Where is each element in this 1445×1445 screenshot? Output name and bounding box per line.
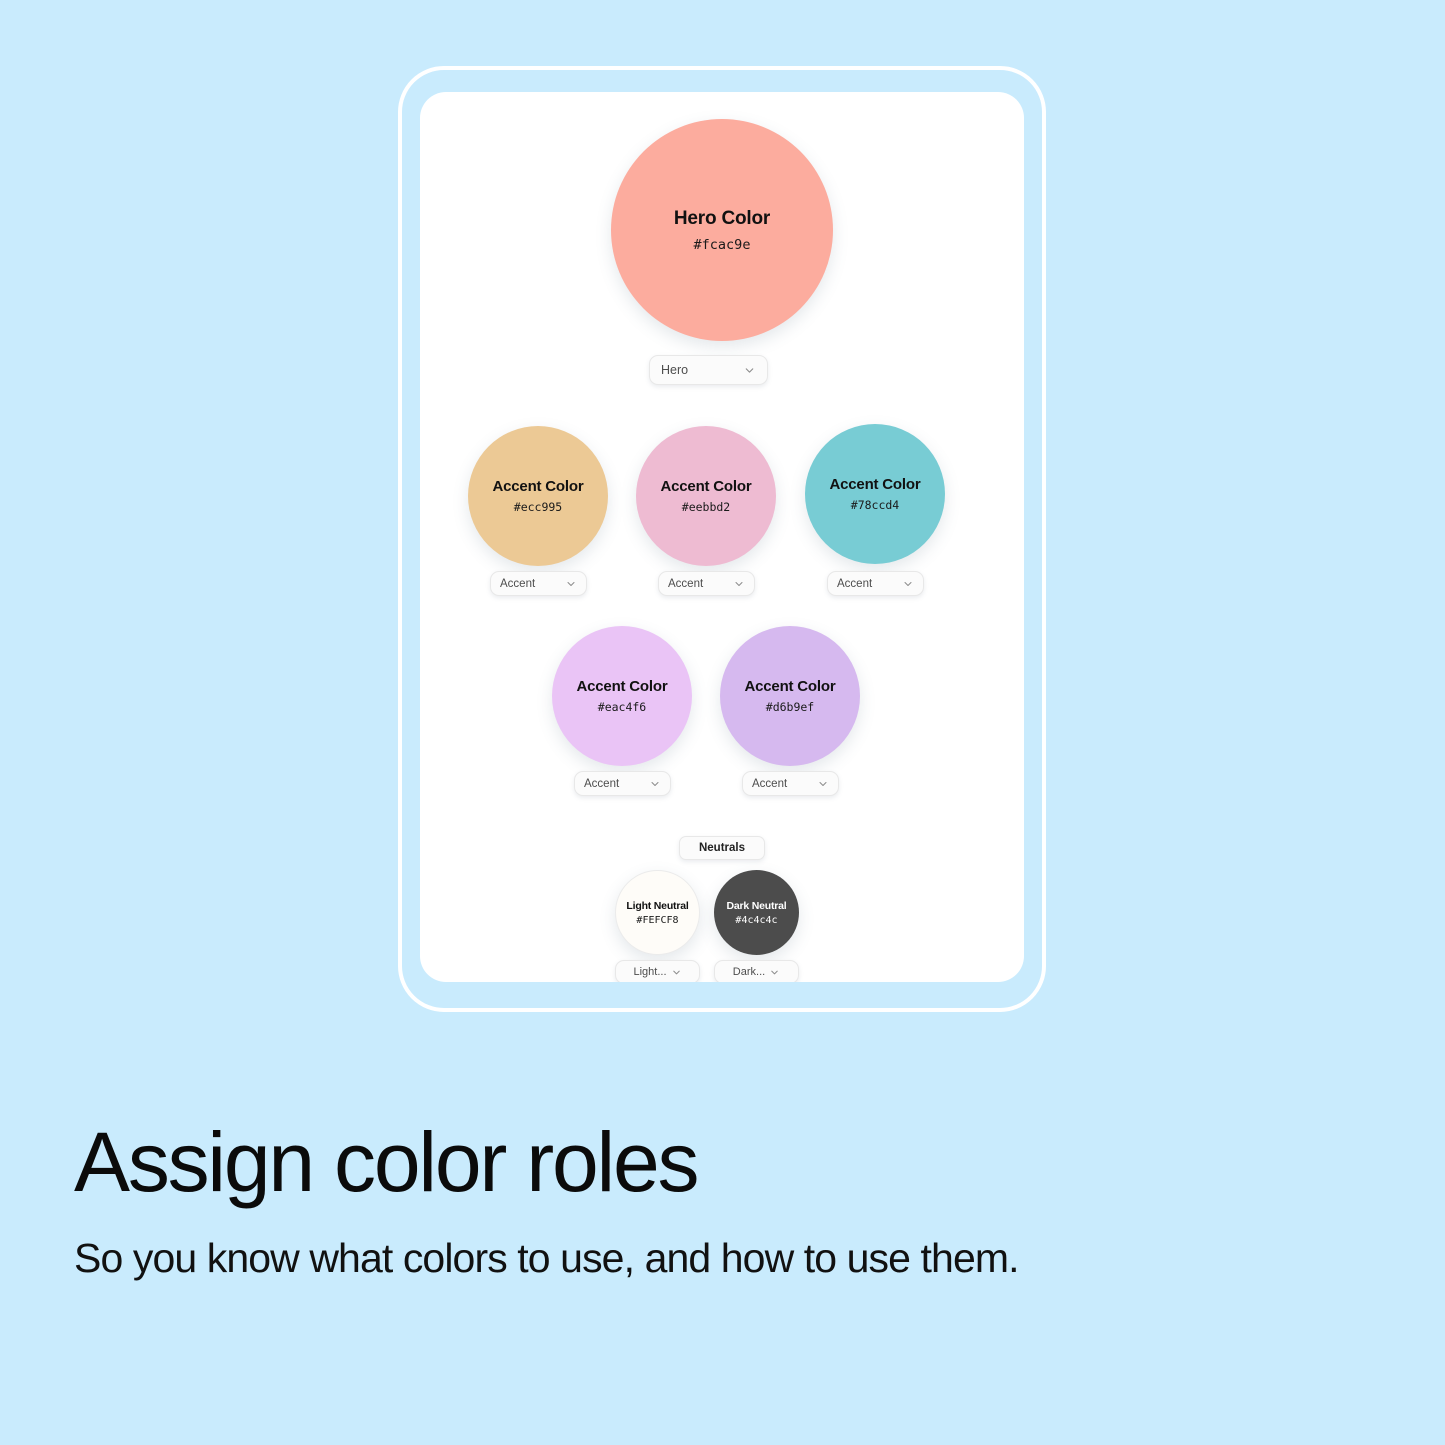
dark-neutral-role-dropdown[interactable]: Dark...: [714, 960, 799, 982]
accent-color-swatch[interactable]: Accent Color #78ccd4: [805, 424, 945, 564]
chevron-down-icon: [769, 967, 780, 978]
accent-role-label: Accent Color: [577, 678, 668, 695]
accent-color-swatch[interactable]: Accent Color #eac4f6: [552, 626, 692, 766]
accent-hex-value: #78ccd4: [851, 498, 899, 512]
dark-neutral-hex-value: #4c4c4c: [735, 915, 777, 926]
accent-role-dropdown-value: Accent: [752, 778, 787, 790]
accent-hex-value: #d6b9ef: [766, 700, 814, 714]
accent-color-swatch[interactable]: Accent Color #d6b9ef: [720, 626, 860, 766]
dark-neutral-swatch[interactable]: Dark Neutral #4c4c4c: [714, 870, 799, 955]
page-subtitle: So you know what colors to use, and how …: [74, 1234, 1364, 1283]
light-neutral-role-dropdown-value: Light...: [633, 966, 666, 978]
accent-role-dropdown-value: Accent: [500, 578, 535, 590]
light-neutral-hex-value: #FEFCF8: [636, 915, 678, 926]
accent-hex-value: #ecc995: [514, 500, 562, 514]
accent-role-label: Accent Color: [830, 476, 921, 493]
neutrals-section-label-text: Neutrals: [699, 842, 745, 854]
chevron-down-icon: [565, 578, 577, 590]
accent-role-dropdown[interactable]: Accent: [574, 771, 671, 796]
chevron-down-icon: [671, 967, 682, 978]
light-neutral-role-label: Light Neutral: [626, 900, 688, 912]
chevron-down-icon: [743, 364, 756, 377]
accent-role-dropdown[interactable]: Accent: [742, 771, 839, 796]
caption-block: Assign color roles So you know what colo…: [74, 1118, 1364, 1283]
hero-color-swatch[interactable]: Hero Color #fcac9e: [611, 119, 833, 341]
accent-role-dropdown[interactable]: Accent: [658, 571, 755, 596]
neutrals-section-label: Neutrals: [679, 836, 765, 860]
accent-hex-value: #eebbd2: [682, 500, 730, 514]
accent-role-label: Accent Color: [661, 478, 752, 495]
accent-role-dropdown-value: Accent: [837, 578, 872, 590]
chevron-down-icon: [649, 778, 661, 790]
accent-color-swatch[interactable]: Accent Color #ecc995: [468, 426, 608, 566]
accent-hex-value: #eac4f6: [598, 700, 646, 714]
accent-role-label: Accent Color: [493, 478, 584, 495]
hero-role-dropdown[interactable]: Hero: [649, 355, 768, 385]
dark-neutral-role-label: Dark Neutral: [726, 900, 786, 912]
hero-role-label: Hero Color: [674, 208, 770, 230]
chevron-down-icon: [817, 778, 829, 790]
light-neutral-role-dropdown[interactable]: Light...: [615, 960, 700, 982]
accent-role-dropdown-value: Accent: [668, 578, 703, 590]
accent-role-dropdown-value: Accent: [584, 778, 619, 790]
accent-role-dropdown[interactable]: Accent: [490, 571, 587, 596]
chevron-down-icon: [733, 578, 745, 590]
chevron-down-icon: [902, 578, 914, 590]
dark-neutral-role-dropdown-value: Dark...: [733, 966, 765, 978]
accent-role-label: Accent Color: [745, 678, 836, 695]
hero-role-dropdown-value: Hero: [661, 363, 688, 377]
page-title: Assign color roles: [74, 1118, 1364, 1206]
accent-color-swatch[interactable]: Accent Color #eebbd2: [636, 426, 776, 566]
accent-role-dropdown[interactable]: Accent: [827, 571, 924, 596]
light-neutral-swatch[interactable]: Light Neutral #FEFCF8: [615, 870, 700, 955]
device-screen: Hero Color #fcac9e Hero Accent Color #ec…: [420, 92, 1024, 982]
hero-hex-value: #fcac9e: [694, 237, 751, 253]
